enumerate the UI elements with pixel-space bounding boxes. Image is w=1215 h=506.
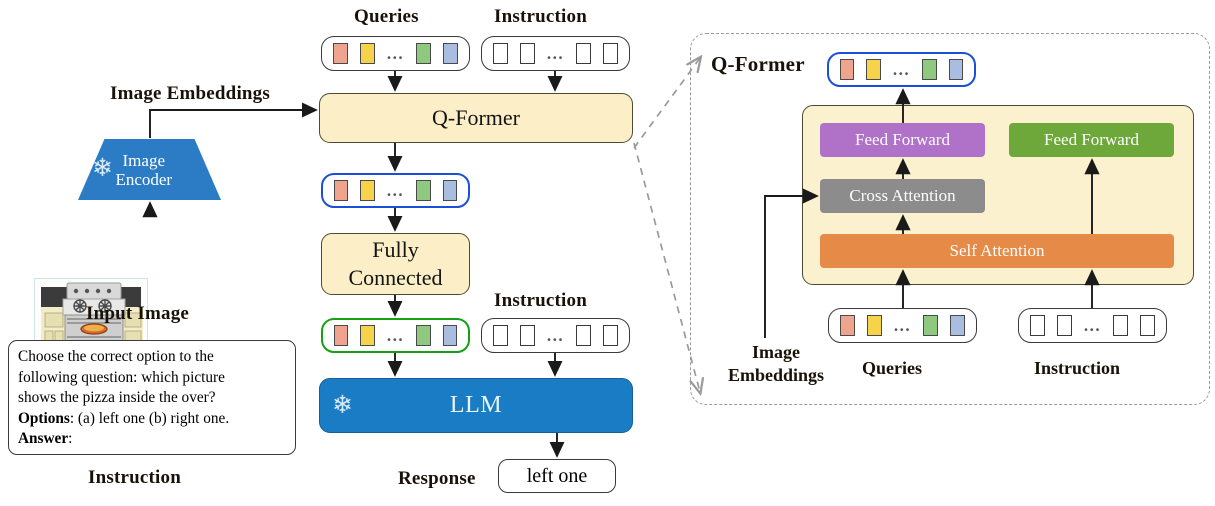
cross-attention-block: Cross Attention bbox=[820, 179, 985, 213]
query-token-3 bbox=[416, 180, 430, 201]
query-token-4 bbox=[443, 43, 458, 64]
query-token-2 bbox=[360, 43, 375, 64]
query-token-1 bbox=[333, 43, 348, 64]
query-token-2 bbox=[360, 180, 374, 201]
qformer-detail-title: Q-Former bbox=[711, 52, 805, 77]
instruction-token-4 bbox=[603, 43, 618, 64]
answer-key: Answer bbox=[18, 430, 68, 447]
query-token-1 bbox=[840, 315, 855, 336]
query-token-3 bbox=[923, 315, 938, 336]
query-token-2 bbox=[360, 325, 374, 346]
self-attention-block: Self Attention bbox=[820, 234, 1174, 268]
options-key: Options bbox=[18, 410, 70, 427]
instruction-token-strip-mid: ... bbox=[481, 318, 630, 353]
input-image-label: Input Image bbox=[86, 303, 189, 325]
instruction-options-line: Options: (a) left one (b) right one. bbox=[18, 409, 287, 430]
query-token-4 bbox=[443, 325, 457, 346]
self-attention-label: Self Attention bbox=[950, 241, 1045, 261]
instruction-card: Choose the correct option to the followi… bbox=[8, 340, 296, 455]
instruction-label-mid: Instruction bbox=[494, 290, 587, 312]
instruction-token-2 bbox=[520, 325, 535, 346]
instruction-token-3 bbox=[576, 325, 591, 346]
qformer-output-token-strip: ... bbox=[321, 173, 470, 208]
query-token-1 bbox=[334, 180, 348, 201]
query-token-3 bbox=[416, 325, 430, 346]
instruction-answer-line: Answer: bbox=[18, 429, 287, 450]
query-ellipsis: ... bbox=[893, 67, 910, 73]
instruction-token-1 bbox=[1030, 315, 1045, 336]
feed-forward-left-block: Feed Forward bbox=[820, 123, 985, 157]
instruction-token-2 bbox=[1057, 315, 1072, 336]
queries-label-top: Queries bbox=[354, 6, 419, 28]
instruction-card-label: Instruction bbox=[88, 467, 181, 489]
fully-connected-label-line2: Connected bbox=[348, 265, 442, 290]
instruction-token-2 bbox=[520, 43, 535, 64]
arrow-image-embeddings-to-qformer bbox=[150, 110, 316, 138]
fully-connected-block: Fully Connected bbox=[321, 233, 470, 295]
detail-instruction-label: Instruction bbox=[1034, 358, 1120, 379]
image-encoder-label: Image Encoder bbox=[115, 151, 172, 189]
response-box: left one bbox=[498, 459, 616, 493]
query-token-2 bbox=[867, 315, 882, 336]
response-value: left one bbox=[527, 465, 588, 488]
qformer-label: Q-Former bbox=[432, 105, 520, 131]
image-embeddings-line2: Embeddings bbox=[728, 365, 824, 385]
instruction-token-1 bbox=[493, 325, 508, 346]
llm-input-token-strip: ... bbox=[321, 318, 470, 353]
query-token-1 bbox=[840, 59, 854, 80]
query-ellipsis: ... bbox=[387, 51, 404, 57]
snowflake-icon: ❄ bbox=[92, 156, 113, 181]
instruction-line-2: following question: which picture bbox=[18, 368, 287, 389]
instruction-label-top: Instruction bbox=[494, 6, 587, 28]
query-token-4 bbox=[443, 180, 457, 201]
query-token-2 bbox=[866, 59, 880, 80]
answer-value: : bbox=[68, 430, 72, 447]
qformer-block: Q-Former bbox=[319, 93, 633, 143]
response-label: Response bbox=[398, 468, 476, 490]
instruction-ellipsis: ... bbox=[547, 51, 564, 57]
instruction-token-3 bbox=[1113, 315, 1128, 336]
detail-instruction-token-strip: ... bbox=[1018, 308, 1167, 343]
image-embeddings-label: Image Embeddings bbox=[110, 83, 270, 105]
query-ellipsis: ... bbox=[387, 188, 404, 194]
query-token-3 bbox=[922, 59, 936, 80]
query-token-4 bbox=[950, 315, 965, 336]
query-token-1 bbox=[334, 325, 348, 346]
image-encoder-block: ❄ Image Encoder bbox=[78, 139, 221, 200]
feed-forward-right-block: Feed Forward bbox=[1009, 123, 1174, 157]
image-embeddings-line1: Image bbox=[752, 342, 800, 362]
instruction-token-4 bbox=[1140, 315, 1155, 336]
instruction-token-1 bbox=[493, 43, 508, 64]
instruction-line-3: shows the pizza inside the over? bbox=[18, 388, 287, 409]
options-value: : (a) left one (b) right one. bbox=[70, 410, 229, 427]
llm-block: ❄ LLM bbox=[319, 378, 633, 433]
instruction-token-3 bbox=[576, 43, 591, 64]
detail-queries-token-strip: ... bbox=[828, 308, 977, 343]
qformer-detail-output-strip: ... bbox=[827, 52, 976, 87]
llm-label: LLM bbox=[450, 392, 502, 419]
detail-queries-label: Queries bbox=[862, 358, 922, 379]
query-token-3 bbox=[416, 43, 431, 64]
cross-attention-label: Cross Attention bbox=[849, 186, 955, 206]
instruction-token-strip-top: ... bbox=[481, 36, 630, 71]
snowflake-icon: ❄ bbox=[332, 393, 353, 418]
queries-token-strip-top: ... bbox=[321, 36, 470, 71]
feed-forward-right-label: Feed Forward bbox=[1044, 130, 1139, 150]
feed-forward-left-label: Feed Forward bbox=[855, 130, 950, 150]
query-ellipsis: ... bbox=[387, 333, 404, 339]
instruction-ellipsis: ... bbox=[547, 333, 564, 339]
detail-image-embeddings-label: Image Embeddings bbox=[716, 341, 836, 387]
query-ellipsis: ... bbox=[894, 323, 911, 329]
instruction-ellipsis: ... bbox=[1084, 323, 1101, 329]
instruction-line-1: Choose the correct option to the bbox=[18, 347, 287, 368]
fully-connected-label-line1: Fully bbox=[372, 237, 418, 262]
instruction-token-4 bbox=[603, 325, 618, 346]
query-token-4 bbox=[949, 59, 963, 80]
